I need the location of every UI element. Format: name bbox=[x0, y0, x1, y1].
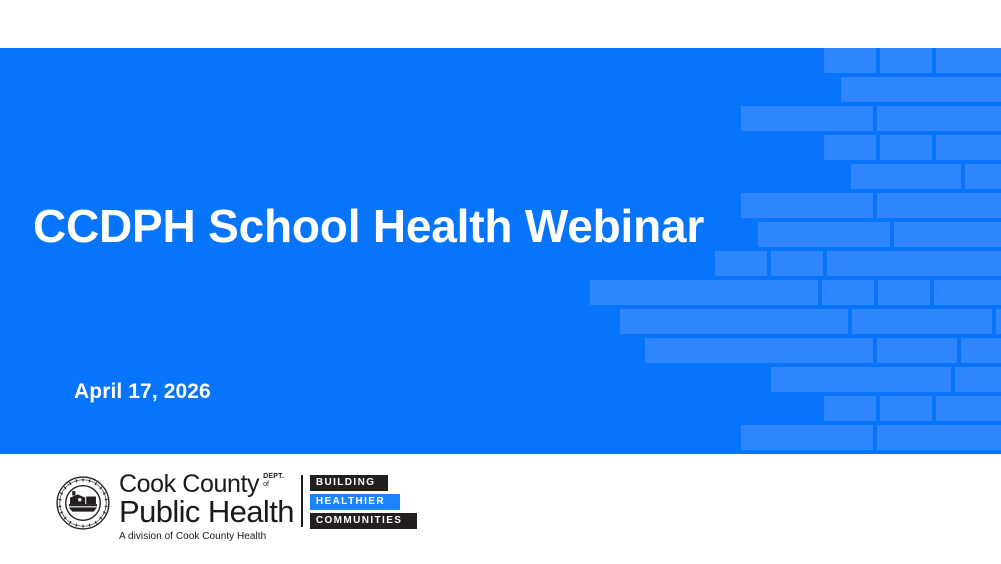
brick-row bbox=[715, 251, 1001, 276]
wordmark-tagline: A division of Cook County Health bbox=[119, 531, 294, 542]
brick-row bbox=[851, 164, 1001, 189]
brick-row bbox=[590, 280, 1001, 305]
brick bbox=[771, 251, 823, 276]
brick bbox=[878, 280, 930, 305]
brick-row bbox=[620, 309, 1001, 334]
brick-row bbox=[841, 77, 1001, 102]
brick-row bbox=[771, 367, 1001, 392]
brick bbox=[620, 309, 848, 334]
brick bbox=[936, 135, 1001, 160]
brick bbox=[880, 48, 932, 73]
brick bbox=[771, 367, 951, 392]
brick bbox=[824, 396, 876, 421]
brick bbox=[936, 48, 1001, 73]
wordmark-dept-of: DEPT. of bbox=[263, 473, 284, 489]
brick bbox=[824, 48, 876, 73]
brick bbox=[880, 396, 932, 421]
brick bbox=[827, 251, 1001, 276]
slogan-bar-building: BUILDING bbox=[310, 475, 388, 491]
brick bbox=[824, 135, 876, 160]
brick bbox=[934, 280, 1001, 305]
brick-row bbox=[824, 396, 1001, 421]
slide-root: CCDPH School Health Webinar April 17, 20… bbox=[0, 0, 1001, 564]
brick bbox=[894, 222, 1001, 247]
page-title: CCDPH School Health Webinar bbox=[33, 200, 704, 253]
wordmark-dept-label: DEPT. bbox=[263, 473, 284, 480]
brick-row bbox=[645, 338, 1001, 363]
brick bbox=[822, 280, 874, 305]
brick bbox=[877, 338, 957, 363]
brick bbox=[590, 280, 818, 305]
brick bbox=[877, 193, 1001, 218]
brick-row bbox=[758, 222, 1001, 247]
brick-row bbox=[741, 193, 1001, 218]
brick-row bbox=[741, 425, 1001, 450]
brick bbox=[645, 338, 873, 363]
brick bbox=[961, 338, 1001, 363]
brick bbox=[877, 425, 1001, 450]
hero-panel: CCDPH School Health Webinar April 17, 20… bbox=[0, 48, 1001, 454]
cook-county-seal-icon bbox=[56, 476, 110, 530]
brick bbox=[852, 309, 992, 334]
brick bbox=[841, 77, 1001, 102]
logo-divider bbox=[301, 475, 303, 527]
wordmark-of-label: of bbox=[263, 481, 284, 488]
brick bbox=[851, 164, 961, 189]
brick bbox=[936, 396, 1001, 421]
brick-row bbox=[824, 48, 1001, 73]
brick bbox=[758, 222, 890, 247]
brick bbox=[741, 106, 873, 131]
brick bbox=[996, 309, 1001, 334]
brick-row bbox=[824, 135, 1001, 160]
brick bbox=[715, 251, 767, 276]
brick bbox=[877, 106, 1001, 131]
brick bbox=[880, 135, 932, 160]
brick bbox=[741, 425, 873, 450]
slogan-block: BUILDING HEALTHIER COMMUNITIES bbox=[310, 475, 417, 529]
brick-row bbox=[741, 106, 1001, 131]
slogan-bar-communities: COMMUNITIES bbox=[310, 513, 417, 529]
brick bbox=[965, 164, 1001, 189]
ccdph-wordmark: Cook County DEPT. of Public Health A div… bbox=[119, 472, 294, 542]
brick bbox=[741, 193, 873, 218]
slide-date: April 17, 2026 bbox=[74, 380, 211, 404]
wordmark-public-health: Public Health bbox=[119, 496, 294, 528]
slogan-bar-healthier: HEALTHIER bbox=[310, 494, 400, 510]
footer-bar: Cook County DEPT. of Public Health A div… bbox=[0, 454, 1001, 564]
ccdph-logo-lockup: Cook County DEPT. of Public Health A div… bbox=[56, 472, 417, 542]
brick bbox=[955, 367, 1001, 392]
